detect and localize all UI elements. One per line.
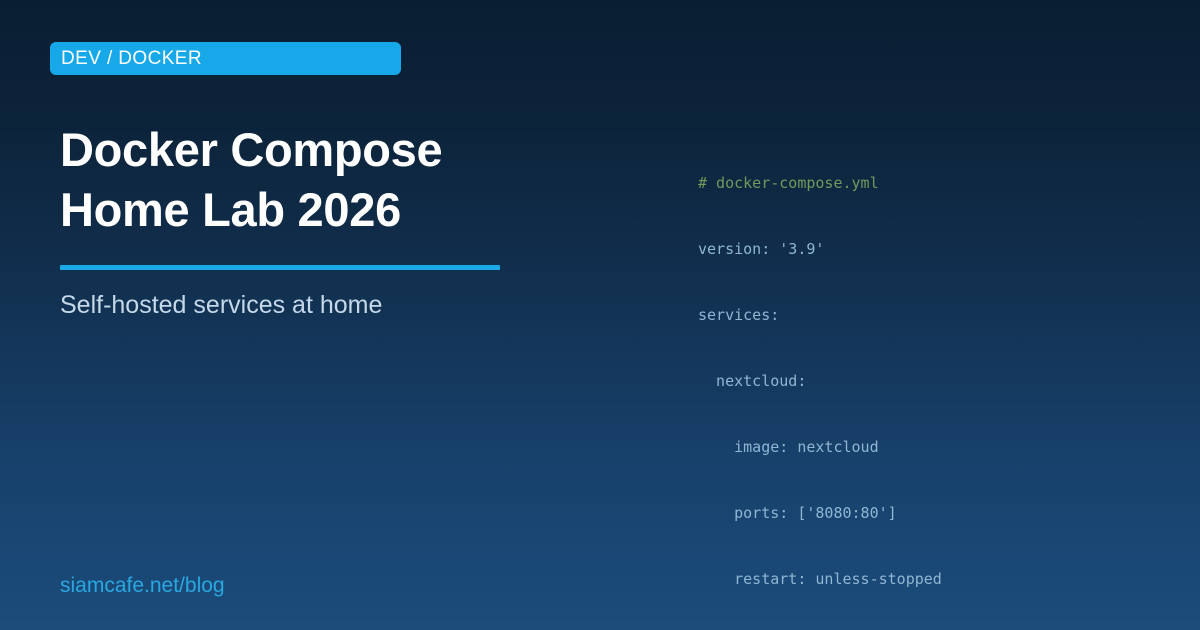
category-badge: DEV / DOCKER: [50, 42, 401, 75]
code-line: nextcloud:: [698, 370, 1158, 392]
category-badge-label: DEV / DOCKER: [61, 49, 202, 68]
code-line: version: '3.9': [698, 238, 1158, 260]
page-title: Docker Compose Home Lab 2026: [60, 120, 660, 240]
code-line: # docker-compose.yml: [698, 172, 1158, 194]
code-line: services:: [698, 304, 1158, 326]
code-line: ports: ['8080:80']: [698, 502, 1158, 524]
page-title-line-2: Home Lab 2026: [60, 180, 660, 240]
title-divider-rule: [60, 265, 500, 270]
page-title-line-1: Docker Compose: [60, 120, 660, 180]
page-subtitle: Self-hosted services at home: [60, 290, 660, 320]
code-line: restart: unless-stopped: [698, 568, 1158, 590]
headline-block: Docker Compose Home Lab 2026 Self-hosted…: [60, 120, 660, 320]
og-card: DEV / DOCKER Docker Compose Home Lab 202…: [0, 0, 1200, 630]
footer-site-url[interactable]: siamcafe.net/blog: [60, 573, 225, 598]
code-line: image: nextcloud: [698, 436, 1158, 458]
code-snippet-panel: # docker-compose.yml version: '3.9' serv…: [698, 128, 1158, 630]
